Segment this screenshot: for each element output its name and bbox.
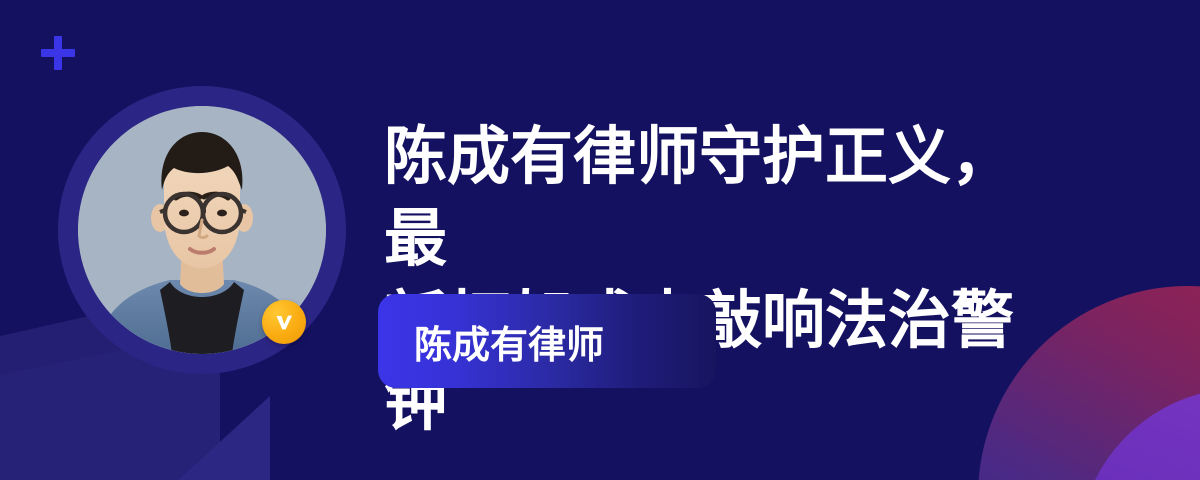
plus-icon (41, 36, 75, 70)
promo-banner: 陈成有律师守护正义，最 新打架成本敲响法治警钟 陈成有律师 (0, 0, 1200, 480)
verified-badge-icon (262, 300, 306, 344)
page-title: 陈成有律师守护正义，最 新打架成本敲响法治警钟 (384, 116, 1074, 444)
avatar[interactable] (58, 86, 346, 374)
banner-content: 陈成有律师守护正义，最 新打架成本敲响法治警钟 陈成有律师 (384, 0, 1084, 480)
author-name-button[interactable]: 陈成有律师 (378, 294, 716, 388)
